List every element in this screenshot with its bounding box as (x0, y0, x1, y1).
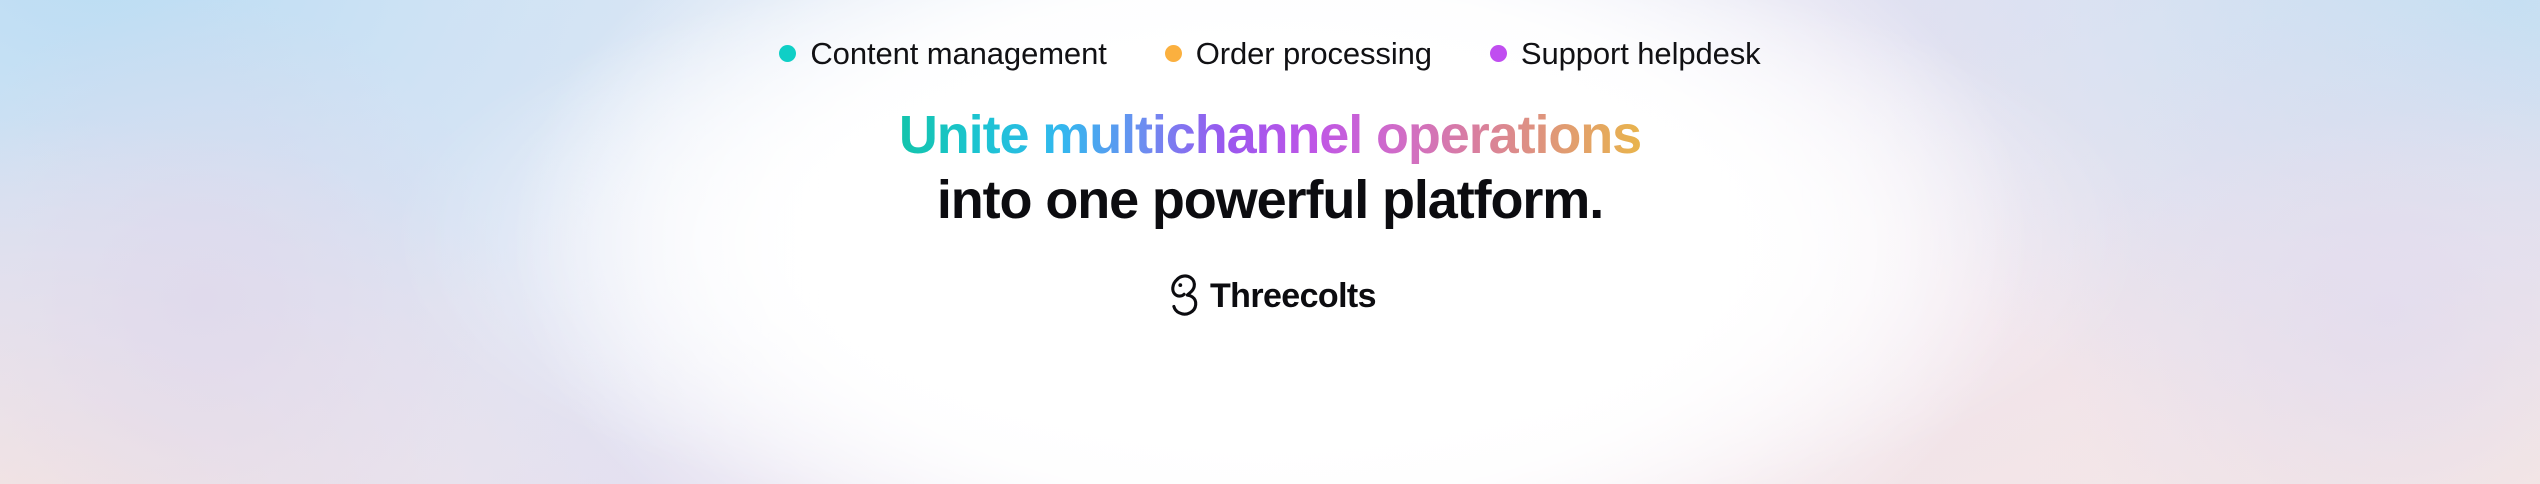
banner-content: Content management Order processing Supp… (0, 0, 2540, 484)
bullet-dot-icon (779, 45, 796, 62)
legend-item-label: Support helpdesk (1521, 38, 1761, 69)
legend-item-label: Order processing (1196, 38, 1432, 69)
headline: Unite multichannel operations into one p… (899, 105, 1641, 231)
brand-wordmark: Threecolts (1210, 279, 1376, 313)
feature-legend: Content management Order processing Supp… (779, 38, 1760, 69)
legend-item-content-management[interactable]: Content management (779, 38, 1106, 69)
bullet-dot-icon (1165, 45, 1182, 62)
legend-item-label: Content management (810, 38, 1106, 69)
brand-lockup[interactable]: Threecolts (1164, 273, 1376, 319)
promo-banner: Content management Order processing Supp… (0, 0, 2540, 484)
headline-line-secondary: into one powerful platform. (899, 170, 1641, 232)
bullet-dot-icon (1490, 45, 1507, 62)
legend-item-support-helpdesk[interactable]: Support helpdesk (1490, 38, 1761, 69)
legend-item-order-processing[interactable]: Order processing (1165, 38, 1432, 69)
headline-line-primary: Unite multichannel operations (899, 105, 1641, 167)
threecolts-colt-mark (1164, 273, 1206, 319)
